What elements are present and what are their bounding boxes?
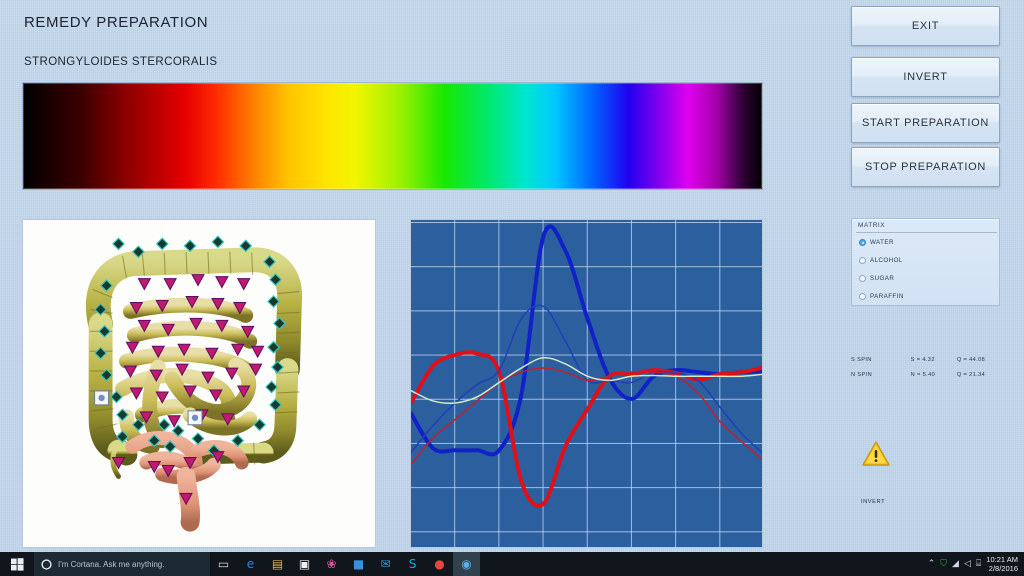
taskbar-icon-list: ▭e▤▣❀■✉S●◉ — [210, 552, 480, 576]
chrome-browser-icon[interactable]: ● — [426, 552, 453, 576]
skype-icon[interactable]: S — [399, 552, 426, 576]
matrix-option-label: ALCOHOL — [870, 257, 903, 264]
spin-row: S SPINS = 4.32Q = 44.08 — [851, 357, 1003, 363]
intestine-diagram-panel[interactable] — [22, 219, 376, 548]
windows-start-icon[interactable] — [0, 552, 34, 576]
color-spectrum-bar — [22, 82, 763, 190]
matrix-legend-label: MATRIX — [858, 222, 885, 229]
spin-value: S = 4.32 — [911, 357, 957, 363]
microsoft-store-icon[interactable]: ▣ — [291, 552, 318, 576]
clock-date: 2/8/2016 — [986, 564, 1018, 573]
chart-series-layer — [411, 220, 763, 548]
remote-desktop-icon-glyph: ■ — [353, 557, 364, 571]
matrix-divider — [856, 232, 997, 233]
edge-browser-icon[interactable]: e — [237, 552, 264, 576]
exit-button[interactable]: EXIT — [851, 6, 1000, 46]
species-label: STRONGYLOIDES STERCORALIS — [24, 56, 217, 68]
action-center-icon[interactable]: ⌸ — [976, 559, 981, 569]
warning-invert-label: INVERT — [861, 499, 885, 505]
intestine-diagram — [23, 220, 375, 547]
file-explorer-icon[interactable]: ▤ — [264, 552, 291, 576]
stop-preparation-button[interactable]: STOP PREPARATION — [851, 147, 1000, 187]
radio-alcohol-icon[interactable] — [859, 257, 866, 264]
spin-q-value: Q = 21.34 — [957, 372, 1003, 378]
microsoft-store-icon-glyph: ▣ — [299, 557, 310, 571]
spin-readout-table: S SPINS = 4.32Q = 44.08N SPINN = 5.40Q =… — [851, 357, 1003, 387]
edge-browser-icon-glyph: e — [247, 557, 254, 571]
clock-time: 10:21 AM — [986, 555, 1018, 564]
windows-taskbar: I'm Cortana. Ask me anything. ▭e▤▣❀■✉S●◉… — [0, 552, 1024, 576]
system-tray: ⌃⛉◢◁⌸ 10:21 AM 2/8/2016 — [928, 552, 1024, 576]
matrix-option-water[interactable]: WATER — [859, 239, 894, 246]
volume-icon[interactable]: ◁ — [964, 559, 971, 569]
media-app-icon[interactable]: ❀ — [318, 552, 345, 576]
chrome-browser-icon-glyph: ● — [434, 557, 444, 571]
skype-icon-glyph: S — [409, 557, 417, 571]
active-app-icon[interactable]: ◉ — [453, 552, 480, 576]
task-view-icon[interactable]: ▭ — [210, 552, 237, 576]
spin-name: S SPIN — [851, 357, 911, 363]
tray-icon-list: ⌃⛉◢◁⌸ — [928, 559, 982, 569]
task-view-icon-glyph: ▭ — [218, 557, 229, 571]
matrix-option-paraffin[interactable]: PARAFFIN — [859, 293, 904, 300]
show-hidden-icons-chevron[interactable]: ⌃ — [928, 559, 936, 569]
invert-button[interactable]: INVERT — [851, 57, 1000, 97]
spin-value: N = 5.40 — [911, 372, 957, 378]
cortana-circle-icon — [41, 559, 52, 570]
spin-name: N SPIN — [851, 372, 911, 378]
cortana-search-input[interactable]: I'm Cortana. Ask me anything. — [34, 552, 210, 576]
cortana-placeholder-text: I'm Cortana. Ask me anything. — [58, 560, 164, 569]
media-app-icon-glyph: ❀ — [326, 557, 336, 571]
taskbar-clock[interactable]: 10:21 AM 2/8/2016 — [986, 555, 1018, 574]
matrix-option-sugar[interactable]: SUGAR — [859, 275, 894, 282]
messaging-icon-glyph: ✉ — [380, 557, 390, 571]
radio-water-icon[interactable] — [859, 239, 866, 246]
file-explorer-icon-glyph: ▤ — [272, 557, 283, 571]
network-icon[interactable]: ◢ — [952, 559, 959, 569]
active-app-icon-glyph: ◉ — [461, 557, 471, 571]
page-title: REMEDY PREPARATION — [24, 14, 208, 31]
matrix-group-box: MATRIX WATERALCOHOLSUGARPARAFFIN — [851, 218, 1000, 306]
radio-sugar-icon[interactable] — [859, 275, 866, 282]
messaging-icon[interactable]: ✉ — [372, 552, 399, 576]
radio-paraffin-icon[interactable] — [859, 293, 866, 300]
chart-series-blue-thick — [411, 226, 763, 454]
matrix-option-label: SUGAR — [870, 275, 894, 282]
chart-series-red-thick — [411, 352, 763, 506]
matrix-option-alcohol[interactable]: ALCOHOL — [859, 257, 903, 264]
signal-chart-panel[interactable] — [410, 219, 763, 548]
spin-row: N SPINN = 5.40Q = 21.34 — [851, 372, 1003, 378]
start-preparation-button[interactable]: START PREPARATION — [851, 103, 1000, 143]
warning-triangle-icon — [862, 440, 890, 466]
matrix-option-label: PARAFFIN — [870, 293, 904, 300]
remote-desktop-icon[interactable]: ■ — [345, 552, 372, 576]
security-shield-icon[interactable]: ⛉ — [940, 559, 947, 569]
spin-q-value: Q = 44.08 — [957, 357, 1003, 363]
matrix-option-label: WATER — [870, 239, 894, 246]
